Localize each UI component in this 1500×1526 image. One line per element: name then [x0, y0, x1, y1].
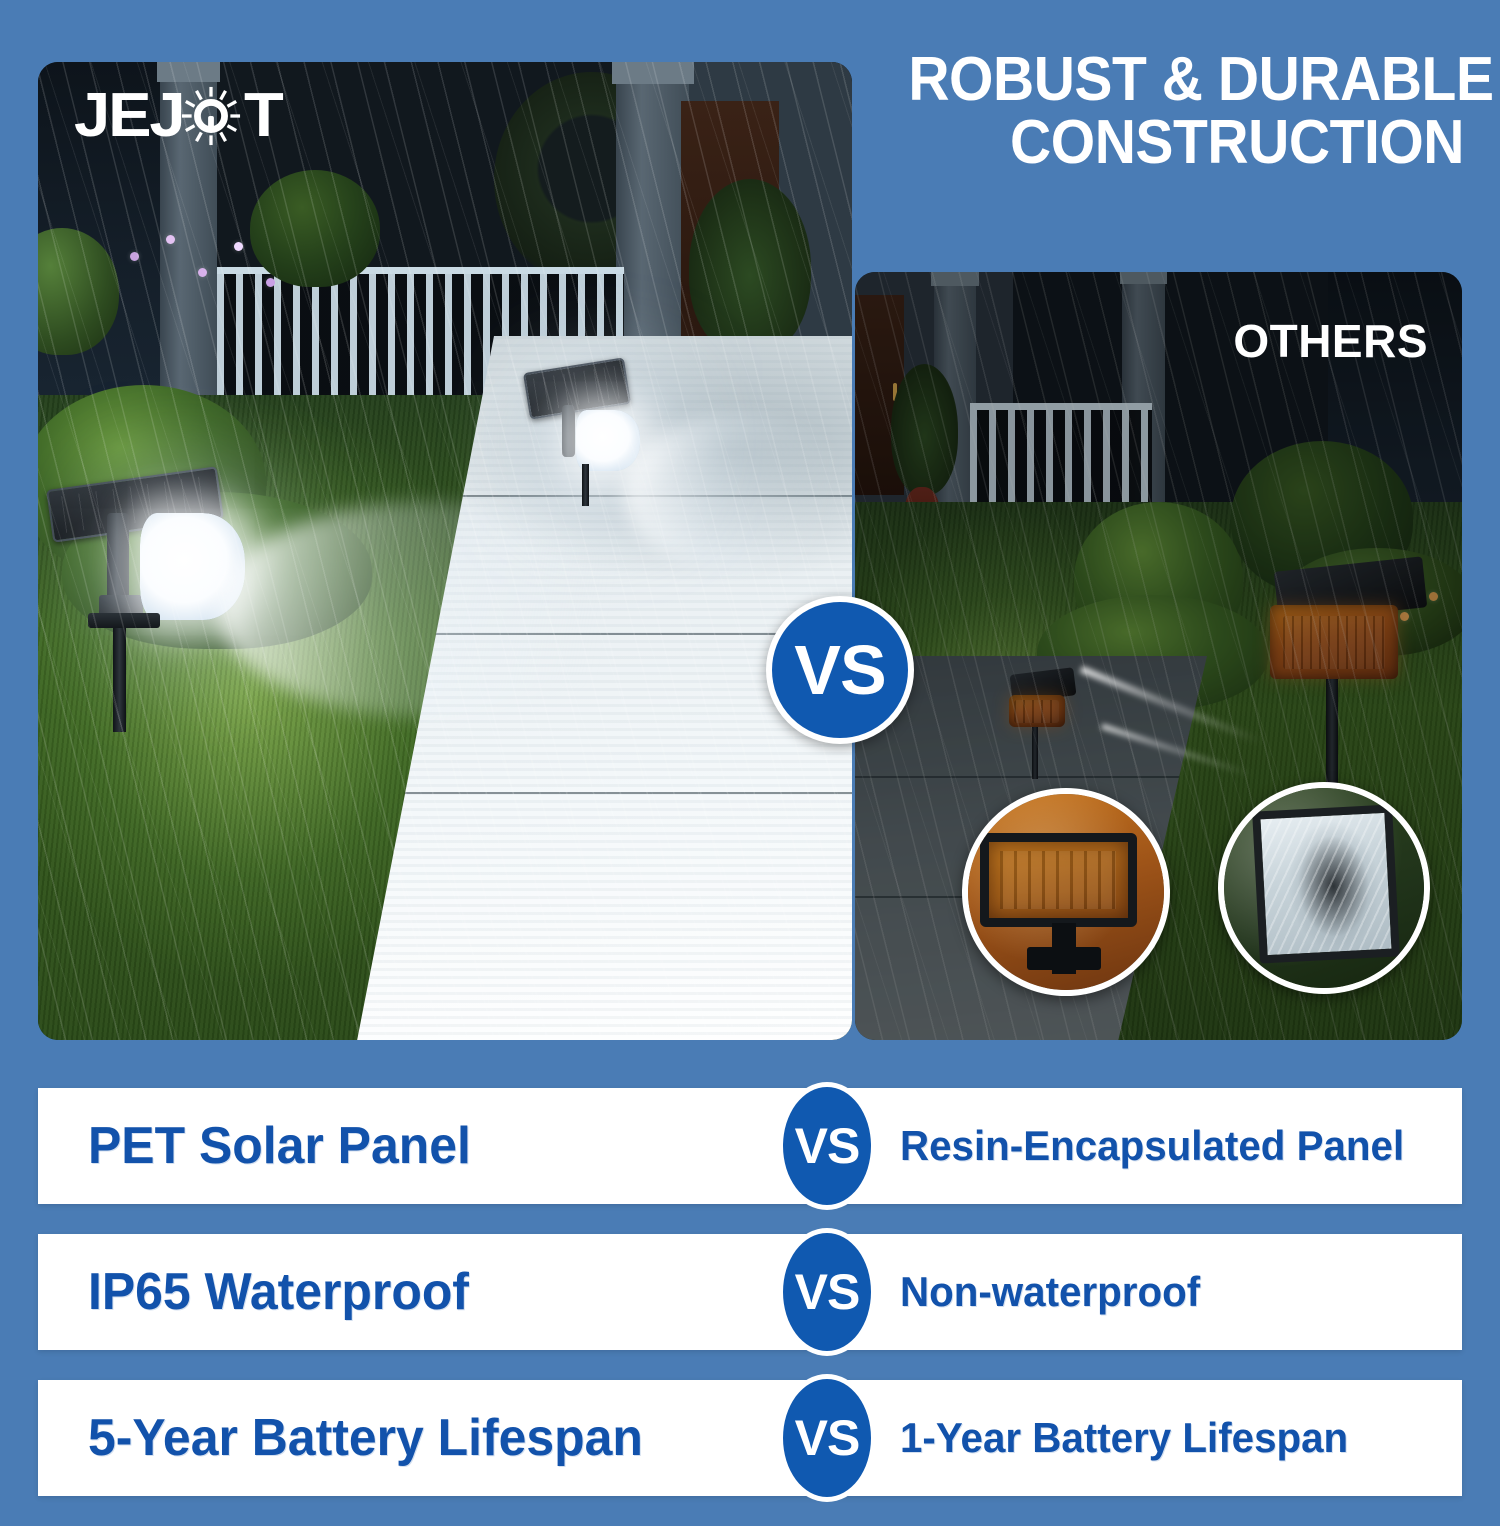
comparison-left-value: 5-Year Battery Lifespan — [88, 1380, 702, 1496]
amber-lens — [1270, 605, 1398, 679]
vs-badge-row: VS — [778, 1082, 876, 1210]
comparison-row: IP65 Waterproof VS Non-waterproof — [0, 1234, 1500, 1350]
light-beam-background — [624, 414, 852, 570]
inset-frosted-cracked-panel — [1218, 782, 1430, 994]
potted-plant — [891, 364, 958, 495]
vs-badge-main: VS — [766, 596, 914, 744]
brand-logo-text-after: T — [244, 80, 282, 151]
photo-comparison-stage: OTHERS JEJ — [0, 0, 1500, 1060]
comparison-left-value: PET Solar Panel — [88, 1088, 702, 1204]
vs-badge-row: VS — [778, 1228, 876, 1356]
brand-logo: JEJ — [74, 80, 280, 151]
competitor-spotlight-hero — [1268, 564, 1462, 794]
potted-plant — [689, 179, 811, 355]
comparison-left-value: IP65 Waterproof — [88, 1234, 702, 1350]
photo-label-others: OTHERS — [1233, 314, 1428, 368]
brand-logo-text-before: JEJ — [74, 80, 184, 151]
competitor-spotlight-background — [1007, 671, 1104, 779]
comparison-row: 5-Year Battery Lifespan VS 1-Year Batter… — [0, 1380, 1500, 1496]
comparison-right-value: 1-Year Battery Lifespan — [900, 1380, 1438, 1496]
vs-badge-row: VS — [778, 1374, 876, 1502]
comparison-table: PET Solar Panel VS Resin-Encapsulated Pa… — [0, 1088, 1500, 1526]
flower-cluster — [119, 228, 298, 345]
sunburst-icon — [180, 85, 242, 147]
inset-yellowed-resin-panel — [962, 788, 1170, 996]
comparison-row: PET Solar Panel VS Resin-Encapsulated Pa… — [0, 1088, 1500, 1204]
night-garden-scene-bright — [38, 62, 852, 1040]
comparison-right-value: Resin-Encapsulated Panel — [900, 1088, 1438, 1204]
light-beam-hero — [217, 502, 640, 717]
photo-jejot-product — [38, 62, 852, 1040]
comparison-right-value: Non-waterproof — [900, 1234, 1438, 1350]
